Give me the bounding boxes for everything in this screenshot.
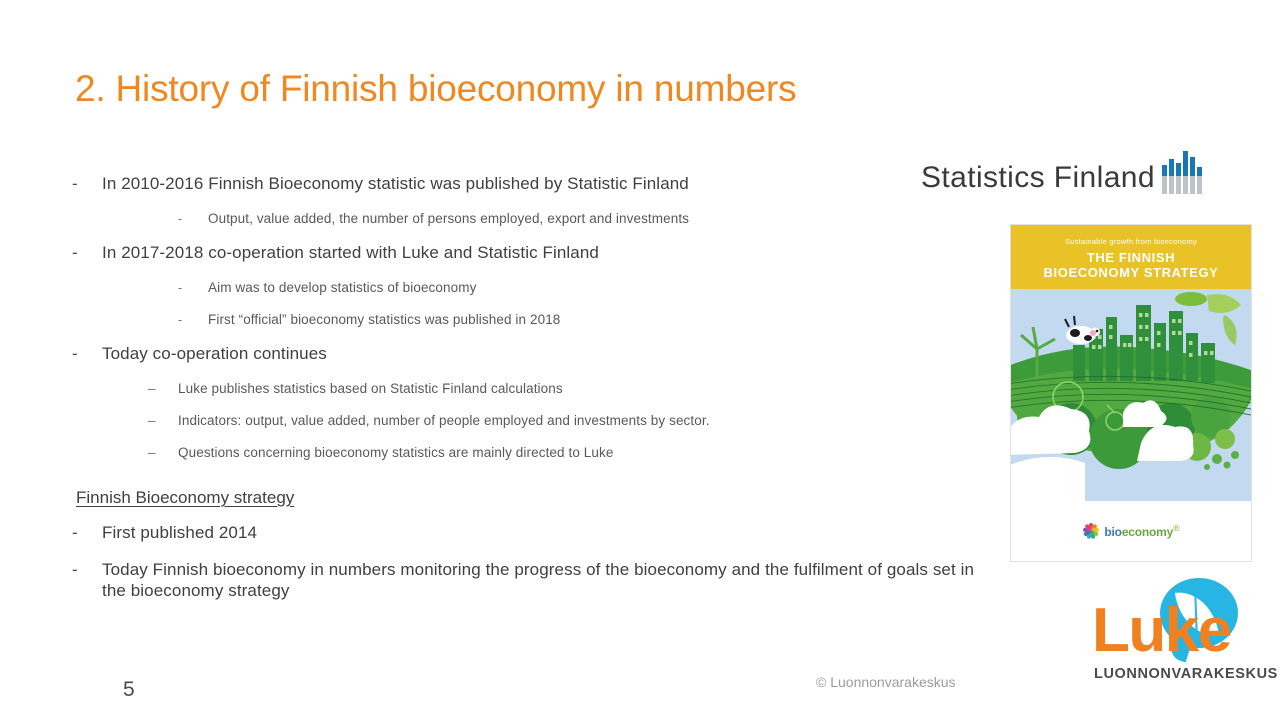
bullet-item: – Questions concerning bioeconomy statis… [72,444,1002,462]
bullet-marker: - [72,559,102,580]
brochure-title-band: Sustainable growth from bioeconomy THE F… [1011,225,1251,289]
luke-logo: Luke LUONNONVARAKESKUS [1092,578,1242,690]
subheading-wrapper: Finnish Bioeconomy strategy [72,476,1002,522]
bullet-text: Questions concerning bioeconomy statisti… [178,444,613,462]
bullet-marker: - [72,173,102,194]
bullet-text: Indicators: output, value added, number … [178,412,710,430]
brochure-illustration [1011,289,1251,501]
bullet-item: - In 2010-2016 Finnish Bioeconomy statis… [72,173,1002,194]
bullet-list: - In 2010-2016 Finnish Bioeconomy statis… [72,173,1002,617]
subheading: Finnish Bioeconomy strategy [76,487,294,508]
bullet-marker: - [178,311,208,329]
brochure-footer: bioeconomy® [1011,501,1251,561]
bullet-item: - First published 2014 [72,522,1002,543]
bar-chart-icon [1162,148,1202,194]
bullet-text: Output, value added, the number of perso… [208,210,689,228]
brochure-title-line1: THE FINNISH [1087,250,1175,265]
bullet-item: - Today Finnish bioeconomy in numbers mo… [72,559,1002,601]
bioeconomy-wordmark: bioeconomy® [1104,523,1179,539]
bullet-marker: - [72,242,102,263]
bullet-text: In 2010-2016 Finnish Bioeconomy statisti… [102,173,689,194]
flower-icon [1082,523,1099,540]
slide: 2. History of Finnish bioeconomy in numb… [0,0,1280,720]
bioeconomy-logo: bioeconomy® [1082,523,1179,540]
bullet-text: First published 2014 [102,522,257,543]
green-cityscape-illustration [1011,289,1251,501]
bullet-marker: - [178,210,208,228]
copyright-text: © Luonnonvarakeskus [816,674,956,690]
bullet-text: First “official” bioeconomy statistics w… [208,311,560,329]
bullet-item: - Aim was to develop statistics of bioec… [72,279,1002,297]
bullet-marker: - [178,279,208,297]
bullet-text: Today Finnish bioeconomy in numbers moni… [102,559,1002,601]
bullet-item: – Indicators: output, value added, numbe… [72,412,1002,430]
bullet-marker: – [148,412,178,430]
bullet-text: Today co-operation continues [102,343,327,364]
bioeconomy-word-bio: bio [1104,525,1121,539]
bullet-item: – Luke publishes statistics based on Sta… [72,380,1002,398]
bullet-item: - Today co-operation continues [72,343,1002,364]
luke-wordmark: Luke [1092,600,1231,662]
brochure-title-line2: BIOECONOMY STRATEGY [1044,265,1219,280]
brochure-tagline: Sustainable growth from bioeconomy [1065,237,1197,246]
bullet-item: - First “official” bioeconomy statistics… [72,311,1002,329]
page-title: 2. History of Finnish bioeconomy in numb… [75,68,796,110]
bioeconomy-strategy-brochure: Sustainable growth from bioeconomy THE F… [1010,224,1252,562]
bullet-marker: – [148,444,178,462]
bullet-marker: – [148,380,178,398]
bullet-text: Aim was to develop statistics of bioecon… [208,279,476,297]
bullet-marker: - [72,343,102,364]
bullet-marker: - [72,522,102,543]
bullet-text: In 2017-2018 co-operation started with L… [102,242,599,263]
bullet-item: - Output, value added, the number of per… [72,210,1002,228]
bioeconomy-word-economy: economy [1122,525,1173,539]
luke-subtitle: LUONNONVARAKESKUS [1094,666,1278,682]
statistics-finland-wordmark: Statistics Finland [921,161,1155,195]
slide-number: 5 [123,678,135,702]
bullet-item: - In 2017-2018 co-operation started with… [72,242,1002,263]
bullet-text: Luke publishes statistics based on Stati… [178,380,563,398]
statistics-finland-logo: Statistics Finland [921,148,1202,195]
registered-mark: ® [1173,523,1179,533]
